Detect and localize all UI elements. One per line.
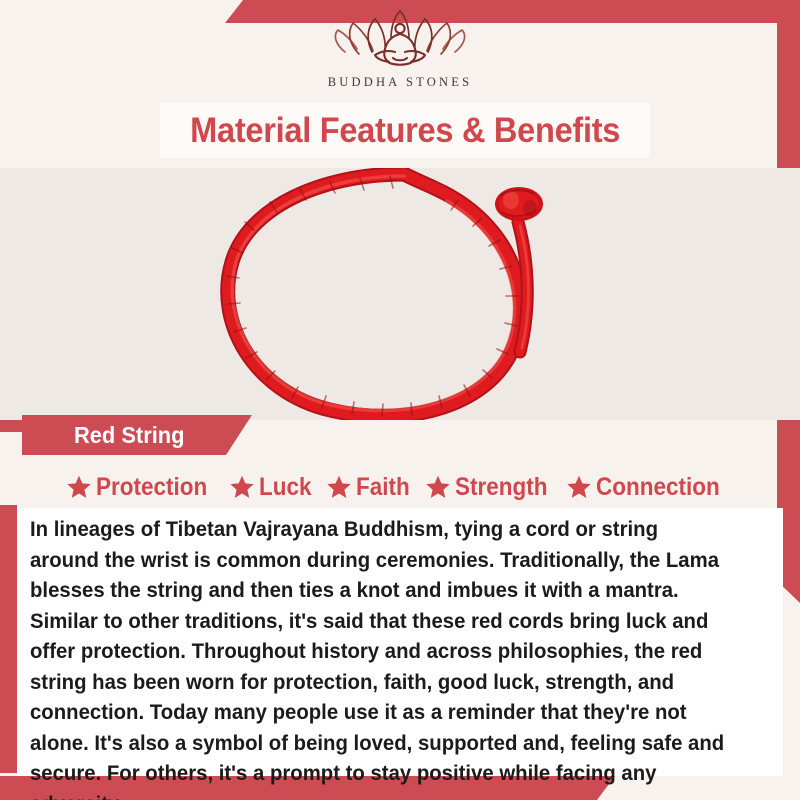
star-icon	[566, 474, 592, 500]
feature-label: Luck	[259, 475, 312, 500]
lotus-meditation-icon	[325, 8, 475, 74]
feature-list: Protection Luck Faith Strength Connectio…	[0, 466, 800, 508]
decor-strip-left-lower	[0, 505, 17, 773]
star-icon	[66, 474, 92, 500]
feature-item: Luck	[229, 474, 317, 500]
title-banner: Material Features & Benefits	[160, 103, 650, 158]
star-icon	[229, 474, 255, 500]
material-name: Red String	[74, 422, 184, 449]
feature-label: Connection	[596, 475, 720, 500]
page-title: Material Features & Benefits	[190, 111, 620, 151]
description-paragraph: In lineages of Tibetan Vajrayana Buddhis…	[30, 514, 732, 800]
feature-item: Protection	[66, 474, 220, 500]
feature-label: Strength	[455, 475, 548, 500]
feature-item: Connection	[566, 474, 734, 500]
feature-item: Strength	[425, 474, 558, 500]
product-image-band	[0, 168, 800, 420]
feature-item: Faith	[326, 474, 416, 500]
description-card: In lineages of Tibetan Vajrayana Buddhis…	[17, 508, 783, 776]
infographic-poster: BUDDHA STONES Material Features & Benefi…	[0, 0, 800, 800]
feature-label: Protection	[96, 475, 207, 500]
material-ribbon: Red String	[22, 415, 252, 455]
star-icon	[326, 474, 352, 500]
brand-logo: BUDDHA STONES	[0, 8, 800, 100]
feature-label: Faith	[356, 475, 410, 500]
red-string-bracelet-photo	[0, 168, 800, 420]
brand-name: BUDDHA STONES	[328, 75, 473, 90]
star-icon	[425, 474, 451, 500]
